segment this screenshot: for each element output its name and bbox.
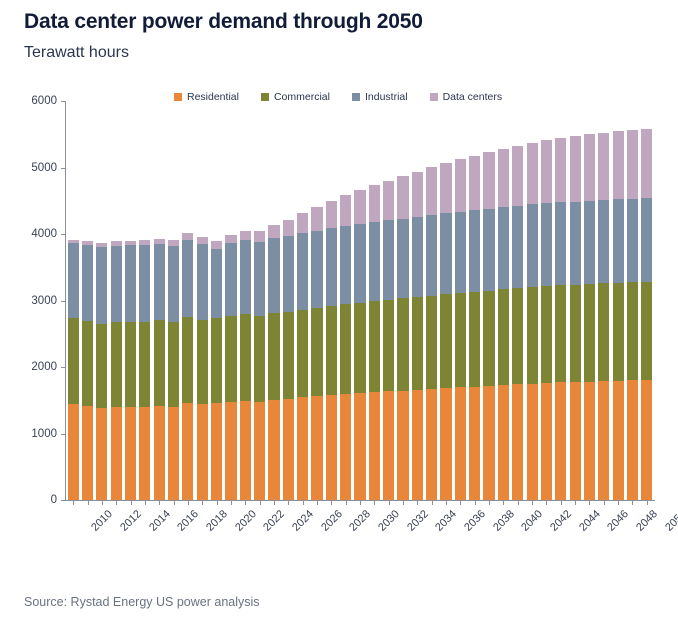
bar-segment <box>584 382 595 500</box>
chart-page: Data center power demand through 2050 Te… <box>0 0 678 632</box>
bar-segment <box>426 296 437 389</box>
x-axis-tick-mark <box>518 500 519 505</box>
bar-segment <box>68 243 79 318</box>
legend-swatch-icon <box>174 93 182 101</box>
bar-segment <box>455 293 466 387</box>
bar-segment <box>211 318 222 403</box>
x-axis-tick-mark <box>346 500 347 505</box>
legend-swatch-icon <box>352 93 360 101</box>
x-axis-tick-mark <box>403 500 404 505</box>
bar-segment <box>283 236 294 312</box>
bar-segment <box>283 220 294 236</box>
bar-segment <box>555 382 566 500</box>
bar-segment <box>527 384 538 500</box>
bar-stack[interactable] <box>225 235 236 500</box>
x-axis-tick-mark <box>231 500 232 505</box>
x-axis-tick-label: 2010 <box>89 508 115 534</box>
y-axis-tick-mark <box>61 301 66 302</box>
bar-segment <box>68 404 79 500</box>
bar-segment <box>469 156 480 211</box>
y-axis-tick-mark <box>61 500 66 501</box>
bar-segment <box>412 172 423 217</box>
bar-segment <box>182 403 193 500</box>
y-axis-tick-mark <box>61 101 66 102</box>
bar-segment <box>584 201 595 284</box>
bar-segment <box>297 397 308 500</box>
bar-segment <box>641 282 652 380</box>
legend-swatch-icon <box>430 93 438 101</box>
x-axis-tick-mark <box>331 500 332 505</box>
bar-segment <box>268 238 279 313</box>
bar-segment <box>627 130 638 198</box>
x-axis-tick-mark <box>245 500 246 505</box>
bar-segment <box>240 314 251 400</box>
bar-segment <box>426 167 437 215</box>
bar-segment <box>125 407 136 500</box>
bar-segment <box>240 240 251 314</box>
bar-stack[interactable] <box>211 241 222 500</box>
bar-stack[interactable] <box>541 140 552 500</box>
bar-segment <box>125 322 136 407</box>
x-axis-tick-label: 2046 <box>606 508 632 534</box>
bar-segment <box>527 204 538 287</box>
bar-segment <box>340 394 351 500</box>
bar-segment <box>383 220 394 299</box>
bar-stack[interactable] <box>555 138 566 500</box>
bar-segment <box>96 324 107 408</box>
bar-stack[interactable] <box>240 231 251 500</box>
chart-subtitle: Terawatt hours <box>24 44 129 62</box>
x-axis-tick-mark <box>632 500 633 505</box>
x-axis-tick-mark <box>446 500 447 505</box>
bar-segment <box>426 215 437 295</box>
x-axis-tick-mark <box>374 500 375 505</box>
bar-stack[interactable] <box>311 207 322 500</box>
bar-segment <box>268 313 279 400</box>
bar-segment <box>311 308 322 396</box>
bar-segment <box>311 396 322 500</box>
bar-segment <box>541 140 552 203</box>
bar-stack[interactable] <box>283 220 294 500</box>
bar-segment <box>182 317 193 403</box>
bar-segment <box>598 283 609 381</box>
bar-segment <box>211 249 222 318</box>
bar-segment <box>211 241 222 249</box>
x-axis-tick-mark <box>475 500 476 505</box>
y-axis-tick-mark <box>61 234 66 235</box>
x-axis-tick-label: 2032 <box>405 508 431 534</box>
bar-segment <box>512 384 523 500</box>
bar-segment <box>383 181 394 221</box>
bar-stack[interactable] <box>182 233 193 500</box>
bar-segment <box>326 395 337 500</box>
bar-segment <box>354 303 365 393</box>
bar-stack[interactable] <box>527 143 538 500</box>
bar-segment <box>354 224 365 302</box>
bar-stack[interactable] <box>268 225 279 500</box>
bar-stack[interactable] <box>613 131 624 500</box>
bar-segment <box>627 380 638 500</box>
bar-segment <box>254 402 265 500</box>
x-axis-tick-label: 2044 <box>577 508 603 534</box>
bar-segment <box>139 407 150 500</box>
bar-stack[interactable] <box>641 129 652 500</box>
bar-segment <box>570 202 581 285</box>
bar-segment <box>613 131 624 199</box>
bar-group <box>66 101 654 500</box>
bar-stack[interactable] <box>96 243 107 500</box>
legend-swatch-icon <box>261 93 269 101</box>
bar-segment <box>397 176 408 219</box>
x-axis-tick-mark <box>432 500 433 505</box>
bar-segment <box>168 407 179 500</box>
bar-stack[interactable] <box>498 149 509 500</box>
x-axis-tick-mark <box>260 500 261 505</box>
bar-segment <box>397 219 408 298</box>
bar-segment <box>254 231 265 242</box>
bar-stack[interactable] <box>154 239 165 500</box>
x-axis-tick-mark <box>88 500 89 505</box>
bar-segment <box>627 199 638 283</box>
x-axis-tick-mark <box>532 500 533 505</box>
bar-segment <box>613 381 624 500</box>
bar-segment <box>111 322 122 406</box>
x-axis-tick-mark <box>145 500 146 505</box>
x-axis-tick-mark <box>202 500 203 505</box>
bar-segment <box>225 402 236 500</box>
bar-segment <box>283 399 294 500</box>
bar-stack[interactable] <box>111 241 122 500</box>
bar-segment <box>225 243 236 316</box>
bar-segment <box>254 316 265 402</box>
bar-segment <box>369 185 380 222</box>
bar-segment <box>240 401 251 500</box>
x-axis-tick-label: 2030 <box>376 508 402 534</box>
bar-stack[interactable] <box>598 133 609 500</box>
bar-segment <box>498 149 509 208</box>
bar-segment <box>555 285 566 382</box>
bar-stack[interactable] <box>168 240 179 500</box>
bar-segment <box>440 388 451 500</box>
bar-segment <box>254 242 265 316</box>
bar-segment <box>598 133 609 200</box>
bar-segment <box>168 246 179 322</box>
bar-stack[interactable] <box>627 130 638 500</box>
bar-segment <box>512 146 523 206</box>
plot-area: 0100020003000400050006000201020122014201… <box>66 101 654 500</box>
x-axis-tick-mark <box>503 500 504 505</box>
x-axis-tick-label: 2040 <box>520 508 546 534</box>
bar-stack[interactable] <box>412 172 423 500</box>
bar-segment <box>584 284 595 381</box>
bar-segment <box>197 404 208 500</box>
bar-segment <box>326 228 337 305</box>
y-axis-tick-mark <box>61 367 66 368</box>
bar-stack[interactable] <box>254 231 265 500</box>
bar-segment <box>598 200 609 284</box>
x-axis-tick-mark <box>389 500 390 505</box>
x-axis-tick-label: 2014 <box>147 508 173 534</box>
bar-segment <box>139 245 150 322</box>
x-axis-tick-mark <box>188 500 189 505</box>
bar-segment <box>455 159 466 212</box>
bar-stack[interactable] <box>383 181 394 501</box>
bar-segment <box>297 310 308 398</box>
bar-segment <box>326 201 337 228</box>
x-axis-tick-mark <box>604 500 605 505</box>
y-axis-tick-mark <box>61 434 66 435</box>
x-axis-tick-mark <box>274 500 275 505</box>
bar-segment <box>82 406 93 500</box>
bar-segment <box>512 206 523 288</box>
x-axis-tick-mark <box>460 500 461 505</box>
x-axis-tick-label: 2016 <box>175 508 201 534</box>
bar-segment <box>426 389 437 500</box>
x-axis-tick-label: 2036 <box>462 508 488 534</box>
bar-segment <box>340 304 351 394</box>
bar-segment <box>641 198 652 282</box>
x-axis-tick-label: 2034 <box>434 508 460 534</box>
bar-segment <box>440 213 451 294</box>
bar-stack[interactable] <box>512 146 523 500</box>
bar-segment <box>369 392 380 500</box>
bar-segment <box>182 240 193 317</box>
bar-segment <box>613 199 624 283</box>
x-axis-tick-label: 2012 <box>118 508 144 534</box>
bar-stack[interactable] <box>584 134 595 500</box>
x-axis-tick-mark <box>575 500 576 505</box>
bar-segment <box>125 245 136 321</box>
bar-stack[interactable] <box>297 213 308 500</box>
bar-segment <box>311 207 322 231</box>
x-axis-tick-mark <box>360 500 361 505</box>
bar-segment <box>354 393 365 500</box>
bar-stack[interactable] <box>68 240 79 500</box>
bar-segment <box>311 231 322 308</box>
x-axis-tick-label: 2042 <box>548 508 574 534</box>
bar-segment <box>469 387 480 500</box>
x-axis-tick-label: 2024 <box>290 508 316 534</box>
x-axis-tick-mark <box>102 500 103 505</box>
bar-segment <box>469 292 480 387</box>
bar-segment <box>440 163 451 213</box>
bar-segment <box>225 235 236 243</box>
x-axis-tick-mark <box>217 500 218 505</box>
x-axis-tick-mark <box>417 500 418 505</box>
bar-segment <box>68 318 79 404</box>
bar-segment <box>297 213 308 233</box>
bar-segment <box>397 391 408 500</box>
x-axis-tick-mark <box>647 500 648 505</box>
bar-segment <box>197 320 208 404</box>
x-axis-tick-label: 2050 <box>663 508 678 534</box>
x-axis-tick-mark <box>131 500 132 505</box>
bar-segment <box>82 321 93 406</box>
bar-segment <box>483 209 494 291</box>
bar-segment <box>139 322 150 406</box>
x-axis-tick-label: 2028 <box>347 508 373 534</box>
bar-segment <box>498 207 509 289</box>
x-axis-tick-label: 2026 <box>319 508 345 534</box>
bar-segment <box>283 312 294 399</box>
bar-stack[interactable] <box>397 176 408 500</box>
bar-segment <box>197 244 208 320</box>
bar-segment <box>412 390 423 500</box>
bar-stack[interactable] <box>326 201 337 500</box>
bar-stack[interactable] <box>570 136 581 500</box>
bar-segment <box>354 190 365 224</box>
source-note: Source: Rystad Energy US power analysis <box>24 595 260 609</box>
bar-segment <box>483 152 494 209</box>
bar-segment <box>340 195 351 226</box>
x-axis-tick-mark <box>159 500 160 505</box>
bar-segment <box>455 212 466 293</box>
bar-segment <box>498 385 509 500</box>
x-axis-tick-mark <box>73 500 74 505</box>
bar-segment <box>96 408 107 500</box>
bar-segment <box>412 217 423 297</box>
bar-segment <box>469 210 480 291</box>
bar-stack[interactable] <box>455 159 466 500</box>
x-axis-tick-mark <box>174 500 175 505</box>
bar-stack[interactable] <box>469 156 480 500</box>
bar-stack[interactable] <box>440 163 451 500</box>
x-axis-tick-mark <box>561 500 562 505</box>
x-axis-tick-mark <box>116 500 117 505</box>
bar-segment <box>111 246 122 323</box>
bar-segment <box>627 282 638 380</box>
bar-segment <box>483 291 494 386</box>
x-axis-tick-mark <box>546 500 547 505</box>
bar-segment <box>527 287 538 383</box>
bar-segment <box>412 297 423 390</box>
x-axis-tick-mark <box>288 500 289 505</box>
x-axis-tick-mark <box>618 500 619 505</box>
x-axis-tick-mark <box>317 500 318 505</box>
x-axis-tick-mark <box>489 500 490 505</box>
bar-segment <box>326 306 337 395</box>
bar-segment <box>82 245 93 322</box>
page-title: Data center power demand through 2050 <box>24 10 423 34</box>
bar-segment <box>154 406 165 500</box>
bar-segment <box>613 283 624 381</box>
y-axis-tick-mark <box>61 168 66 169</box>
bar-segment <box>570 382 581 500</box>
bar-stack[interactable] <box>125 241 136 500</box>
bar-segment <box>154 320 165 405</box>
x-axis-tick-label: 2018 <box>204 508 230 534</box>
bar-segment <box>168 322 179 406</box>
bar-segment <box>541 203 552 286</box>
bar-segment <box>570 136 581 202</box>
bar-segment <box>369 222 380 301</box>
bar-segment <box>641 380 652 500</box>
bar-segment <box>541 286 552 383</box>
bar-stack[interactable] <box>139 240 150 500</box>
bar-segment <box>555 202 566 285</box>
bar-segment <box>527 143 538 205</box>
bar-stack[interactable] <box>197 237 208 500</box>
bar-segment <box>440 294 451 388</box>
bar-segment <box>512 288 523 384</box>
bar-segment <box>555 138 566 203</box>
bar-segment <box>225 316 236 402</box>
bar-segment <box>240 231 251 240</box>
bar-segment <box>498 289 509 385</box>
bar-segment <box>598 381 609 500</box>
bar-segment <box>397 298 408 390</box>
bar-stack[interactable] <box>82 241 93 500</box>
x-axis-tick-label: 2020 <box>233 508 259 534</box>
bar-stack[interactable] <box>354 190 365 500</box>
bar-segment <box>541 383 552 500</box>
x-axis-tick-mark <box>589 500 590 505</box>
bar-segment <box>197 237 208 244</box>
bar-stack[interactable] <box>340 195 351 500</box>
bar-segment <box>383 300 394 392</box>
bar-segment <box>182 233 193 240</box>
bar-segment <box>340 226 351 304</box>
bar-stack[interactable] <box>483 152 494 500</box>
bar-segment <box>111 407 122 500</box>
x-axis-tick-label: 2022 <box>261 508 287 534</box>
bar-segment <box>369 301 380 392</box>
x-axis-tick-label: 2038 <box>491 508 517 534</box>
bar-stack[interactable] <box>426 167 437 500</box>
bar-segment <box>297 233 308 310</box>
bar-segment <box>483 386 494 500</box>
bar-segment <box>268 400 279 500</box>
bar-segment <box>154 244 165 320</box>
bar-segment <box>211 403 222 500</box>
bar-segment <box>455 387 466 500</box>
bar-segment <box>96 247 107 324</box>
x-axis-tick-label: 2048 <box>634 508 660 534</box>
bar-segment <box>641 129 652 198</box>
bar-segment <box>383 391 394 500</box>
x-axis-tick-mark <box>303 500 304 505</box>
bar-segment <box>268 225 279 238</box>
bar-segment <box>570 285 581 382</box>
bar-stack[interactable] <box>369 185 380 500</box>
bar-segment <box>584 134 595 201</box>
